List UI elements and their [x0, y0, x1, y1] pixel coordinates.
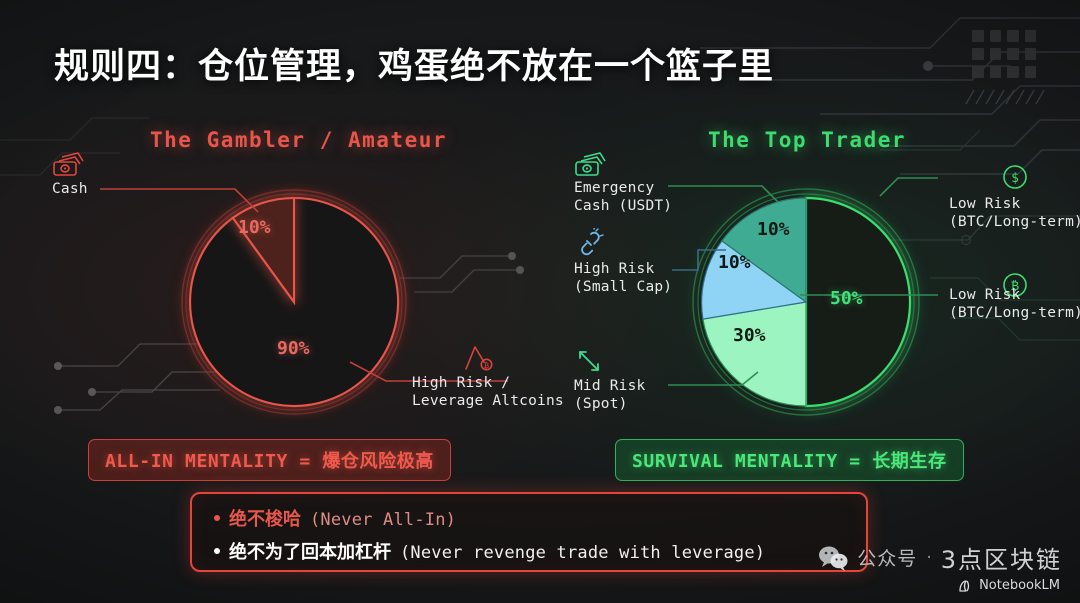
bullet-icon [214, 548, 220, 554]
label-low-risk-top: Low Risk (BTC/Long-term) [949, 195, 1080, 231]
rule-item-1: 绝不梭哈 (Never All-In) [214, 505, 846, 531]
label-low-risk-top-line2: (BTC/Long-term) [949, 213, 1080, 231]
label-mid-risk: Mid Risk (Spot) [574, 377, 645, 413]
label-low-risk-top-line1: Low Risk [949, 195, 1080, 213]
all-in-mentality-en: ALL-IN MENTALITY = [105, 451, 322, 472]
label-emergency-cash-line1: Emergency [574, 179, 672, 197]
label-mid-risk-line2: (Spot) [574, 395, 645, 413]
rule-1-cn: 绝不梭哈 [229, 505, 301, 531]
label-low-risk-bottom-line2: (BTC/Long-term) [949, 304, 1080, 322]
dollar-coin-icon: $ [1000, 162, 1030, 196]
emergency-cash-icon [574, 152, 608, 182]
survival-mentality-banner: SURVIVAL MENTALITY = 长期生存 [615, 439, 964, 481]
pct-right-low-risk: 50% [830, 288, 863, 309]
watermark: 公众号 · 3点区块链 [818, 540, 1062, 575]
all-in-mentality-banner: ALL-IN MENTALITY = 爆仓风险极高 [88, 439, 451, 481]
label-high-risk-small-cap-line1: High Risk [574, 260, 672, 278]
bullet-icon [214, 515, 220, 521]
notebooklm-badge: NotebookLM [958, 578, 1060, 593]
rule-item-2: 绝不为了回本加杠杆 (Never revenge trade with leve… [214, 538, 846, 564]
all-in-mentality-cn: 爆仓风险极高 [322, 451, 434, 472]
rules-box: 绝不梭哈 (Never All-In) 绝不为了回本加杠杆 (Never rev… [190, 492, 868, 572]
label-emergency-cash-line2: Cash (USDT) [574, 197, 672, 215]
broken-chain-icon [574, 228, 604, 260]
rule-2-en: (Never revenge trade with leverage) [400, 543, 765, 563]
slide-canvas: 规则四：仓位管理，鸡蛋绝不放在一个篮子里 The Gambler / Amate… [0, 0, 1080, 603]
survival-mentality-cn: 长期生存 [872, 451, 946, 472]
diagonal-arrow-icon [576, 348, 604, 380]
label-high-risk-small-cap-line2: (Small Cap) [574, 278, 672, 296]
watermark-separator: · [926, 548, 931, 568]
label-low-risk-bottom: Low Risk (BTC/Long-term) [949, 286, 1080, 322]
watermark-account: 公众号 [857, 544, 917, 571]
watermark-name: 3点区块链 [941, 540, 1062, 575]
rule-2-cn: 绝不为了回本加杠杆 [229, 538, 391, 564]
notebooklm-icon [958, 579, 973, 593]
pct-right-high-risk: 10% [718, 252, 751, 273]
svg-text:$: $ [1011, 171, 1019, 186]
label-high-risk-small-cap: High Risk (Small Cap) [574, 260, 672, 296]
wechat-icon [818, 545, 848, 571]
pct-right-emergency: 10% [757, 219, 790, 240]
label-low-risk-bottom-line1: Low Risk [949, 286, 1080, 304]
survival-mentality-en: SURVIVAL MENTALITY = [632, 451, 872, 472]
notebooklm-label: NotebookLM [979, 578, 1060, 593]
label-emergency-cash: Emergency Cash (USDT) [574, 179, 672, 215]
label-mid-risk-line1: Mid Risk [574, 377, 645, 395]
rule-1-en: (Never All-In) [310, 510, 456, 530]
pct-right-mid-risk: 30% [733, 325, 766, 346]
